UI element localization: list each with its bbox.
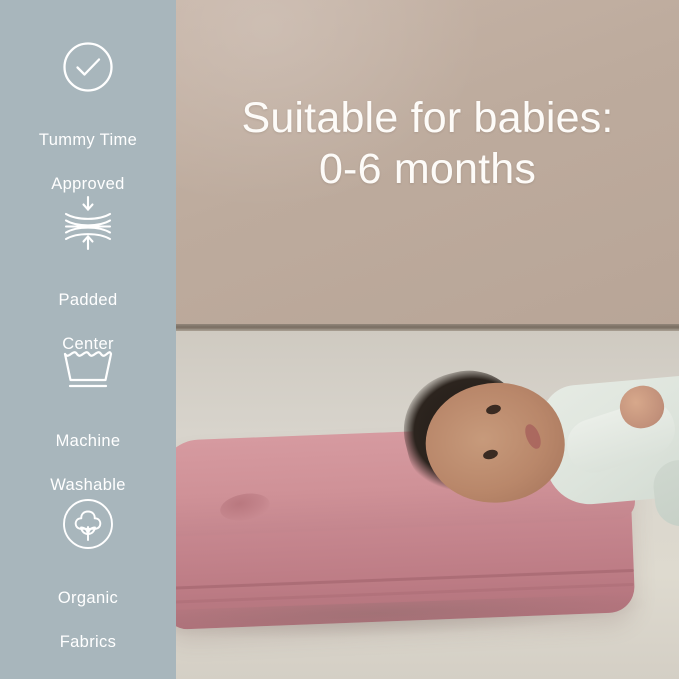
feature-label-padded-center: Padded Center	[59, 267, 118, 355]
padded-cushion-icon	[57, 192, 119, 254]
feature-item-tummy-time: Tummy Time Approved	[0, 40, 176, 192]
feature-label-line-1: Organic	[58, 589, 118, 607]
baseboard-line	[176, 324, 679, 331]
headline-line-2: 0-6 months	[176, 144, 679, 195]
wash-basin-icon	[59, 344, 117, 395]
feature-label-machine-washable: Machine Washable	[50, 408, 126, 496]
feature-label-tummy-time: Tummy Time Approved	[39, 107, 137, 195]
feature-label-line-1: Machine	[56, 432, 121, 450]
check-circle-icon	[61, 40, 115, 94]
product-feature-card: Suitable for babies: 0-6 months Tummy Ti…	[0, 0, 679, 679]
feature-label-organic-fabrics: Organic Fabrics	[58, 565, 118, 653]
feature-item-padded-center: Padded Center	[0, 192, 176, 344]
cotton-boll-icon	[60, 496, 116, 552]
feature-label-line-1: Tummy Time	[39, 131, 137, 149]
feature-label-line-2: Fabrics	[60, 633, 117, 651]
headline-line-1: Suitable for babies:	[241, 94, 613, 142]
feature-sidebar: Tummy Time Approved Pad	[0, 0, 176, 679]
headline: Suitable for babies: 0-6 months	[176, 42, 679, 246]
feature-label-line-1: Padded	[59, 291, 118, 309]
feature-label-line-2: Approved	[51, 175, 124, 193]
feature-label-line-2: Washable	[50, 476, 126, 494]
feature-item-organic-fabrics: Organic Fabrics	[0, 496, 176, 648]
feature-item-machine-washable: Machine Washable	[0, 344, 176, 496]
